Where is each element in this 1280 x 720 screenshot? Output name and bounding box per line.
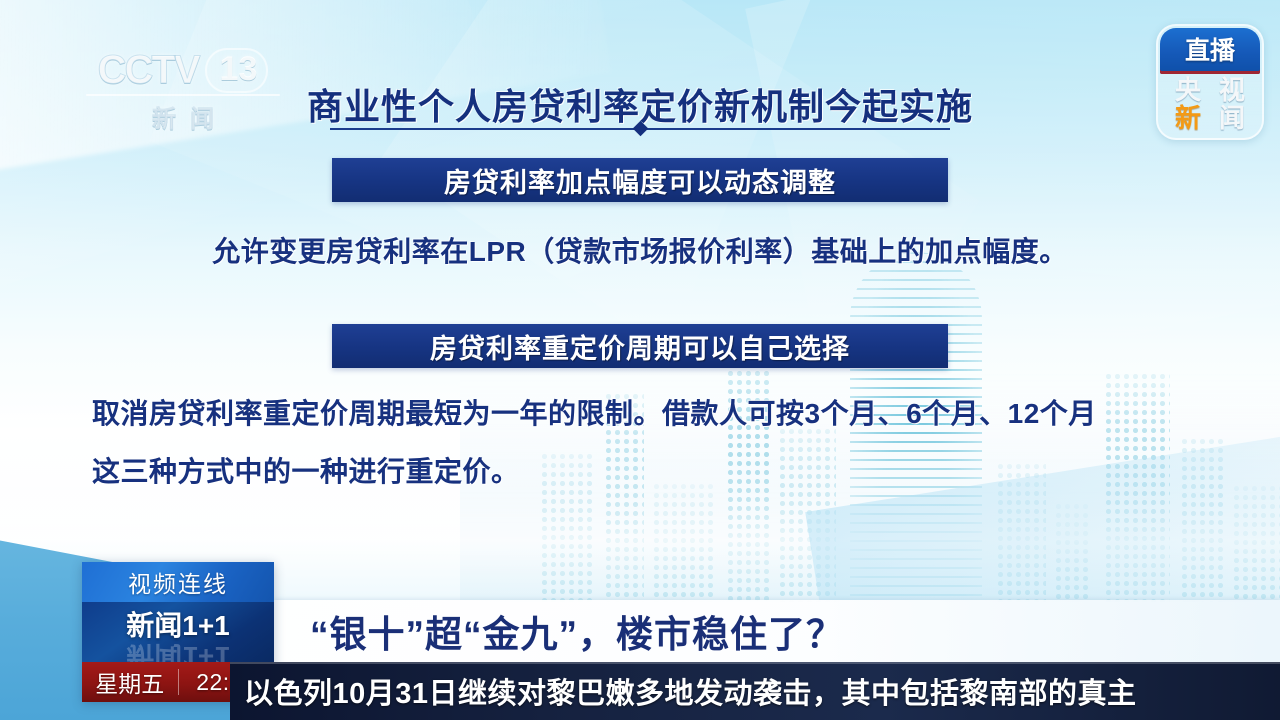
news-ticker-text: 以色列10月31日继续对黎巴嫩多地发动袭击，其中包括黎南部的真主	[230, 670, 1137, 712]
diamond-icon	[632, 121, 648, 137]
news-ticker: 以色列10月31日继续对黎巴嫩多地发动袭击，其中包括黎南部的真主	[230, 662, 1280, 720]
section-banner-2-text: 房贷利率重定价周期可以自己选择	[430, 327, 850, 366]
live-label-char-1: 直播	[1185, 39, 1235, 64]
connection-mode-bar: 视频连线	[82, 562, 274, 602]
lower-third-title-text: “银十”超“金九”，楼市稳住了？	[274, 604, 844, 658]
program-name-bar: 新闻1+1 新闻1+1	[82, 602, 274, 662]
section-banner-1: 房贷利率加点幅度可以动态调整	[332, 158, 948, 202]
section-banner-1-text: 房贷利率加点幅度可以动态调整	[444, 161, 836, 200]
weekday-label: 星期五	[82, 665, 178, 699]
live-label-box: 直播	[1160, 28, 1260, 74]
headline-divider	[330, 122, 950, 136]
lower-third-title-bar: “银十”超“金九”，楼市稳住了？	[274, 600, 1280, 662]
section-2-body-line-1: 取消房贷利率重定价周期最短为一年的限制。借款人可按3个月、6个月、12个月	[92, 392, 1097, 432]
section-1-body-line-1: 允许变更房贷利率在LPR（贷款市场报价利率）基础上的加点幅度。	[0, 230, 1280, 270]
section-2-body-line-2: 这三种方式中的一种进行重定价。	[92, 450, 520, 490]
connection-mode-label: 视频连线	[128, 565, 228, 599]
section-banner-2: 房贷利率重定价周期可以自己选择	[332, 324, 948, 368]
program-name-reflection: 新闻1+1	[82, 638, 274, 662]
broadcast-screen: CCTV 13 新闻 直播 央 视 新 闻 商业性个人房贷利率定价新机制今起实施…	[0, 0, 1280, 720]
